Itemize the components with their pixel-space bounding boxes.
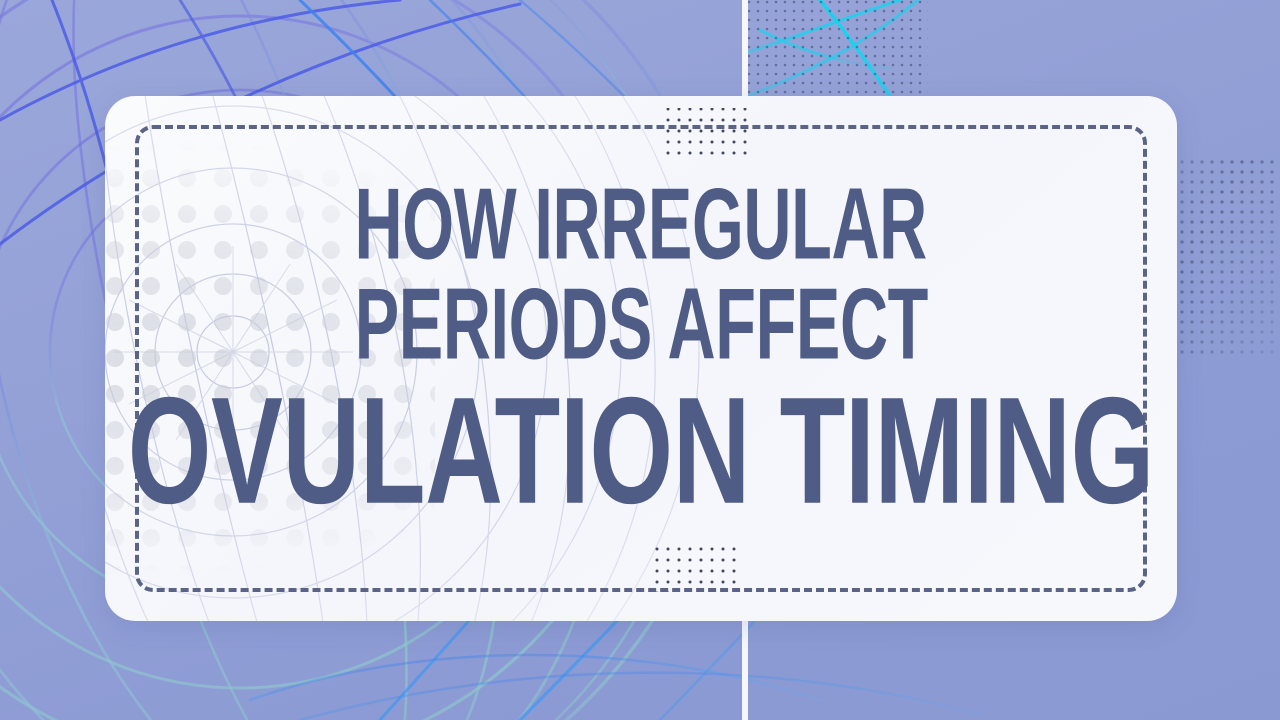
- bg-dot-grid-top-right: [748, 0, 928, 96]
- slide-canvas: How Irregular Periods Affect Ovulation T…: [0, 0, 1280, 720]
- title-card: How Irregular Periods Affect Ovulation T…: [105, 96, 1177, 621]
- headline-line-1: How Irregular: [355, 174, 927, 275]
- headline-block: How Irregular Periods Affect Ovulation T…: [105, 96, 1177, 621]
- headline-line-2: Periods Affect: [354, 274, 927, 375]
- headline-line-3: Ovulation Timing: [128, 375, 1154, 527]
